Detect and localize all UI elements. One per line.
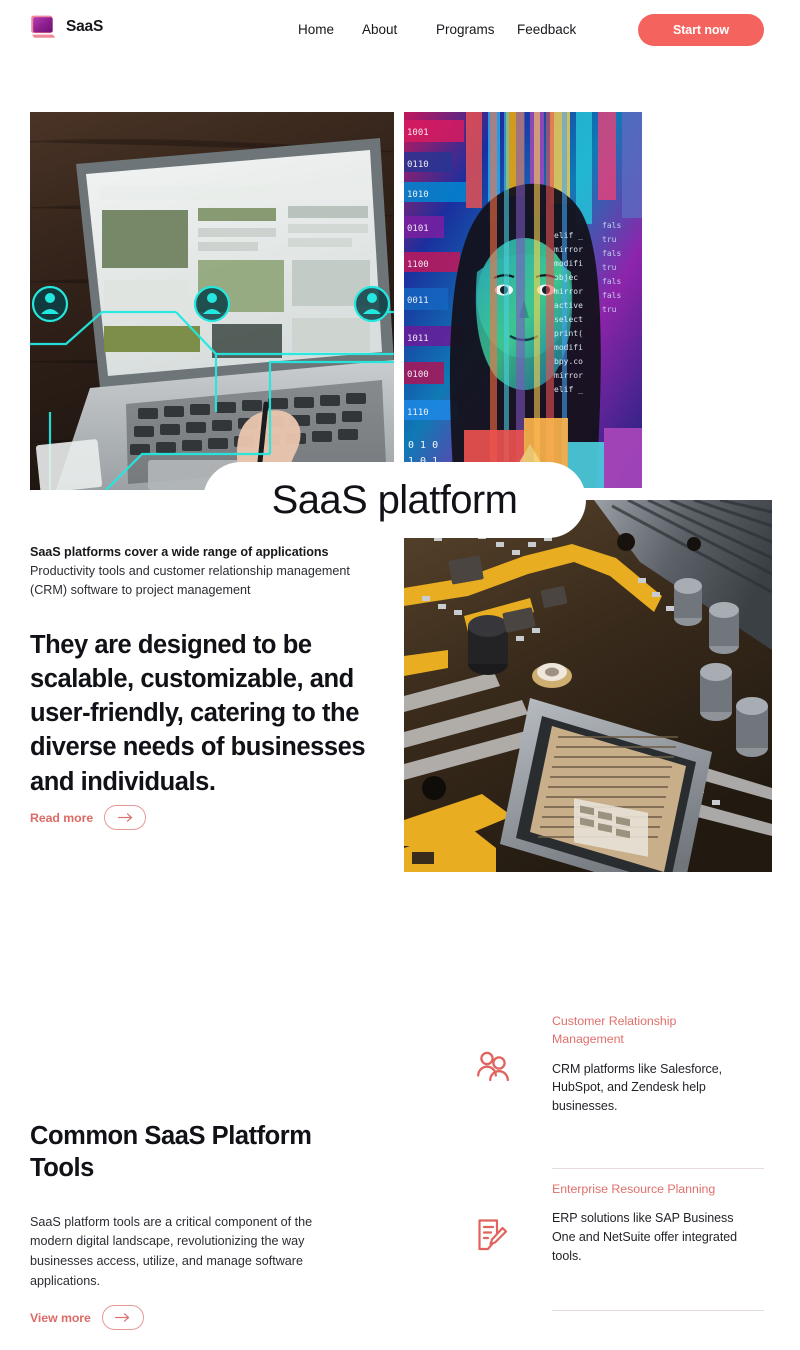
tools-text-block: Common SaaS Platform Tools SaaS platform… [30,1120,360,1291]
svg-text:1001: 1001 [407,128,429,138]
laptop-network-photo [30,112,394,490]
view-more-link[interactable]: View more [30,1305,144,1330]
svg-text:bpy.co: bpy.co [554,357,583,366]
feature-description: ERP solutions like SAP Business One and … [552,1209,744,1265]
svg-text:elif _: elif _ [554,231,583,240]
svg-text:mirror: mirror [554,287,583,296]
svg-text:1110: 1110 [407,408,429,418]
feature-title: Customer Relationship Management [552,1012,744,1049]
woman-code-projection-photo: 10010110 10100101 11000011 10110100 1110 [404,112,642,488]
svg-text:print(: print( [554,329,583,338]
feature-title: Enterprise Resource Planning [552,1180,744,1198]
arrow-right-icon[interactable] [102,1305,144,1330]
svg-text:tru: tru [602,235,617,244]
svg-text:tru: tru [602,263,617,272]
svg-text:objec: objec [554,273,578,282]
feature-list: Customer Relationship Management CRM pla… [476,1000,772,1311]
about-heading: They are designed to be scalable, custom… [30,628,396,799]
svg-text:tru: tru [602,305,617,314]
feature-item-erp: Enterprise Resource Planning ERP solutio… [476,1168,772,1266]
users-icon [476,1012,522,1082]
svg-text:fals: fals [602,249,621,258]
svg-text:1100: 1100 [407,260,429,270]
svg-text:fals: fals [602,277,621,286]
document-edit-icon [476,1180,522,1252]
view-more-label: View more [30,1311,91,1325]
svg-text:1010: 1010 [407,190,429,200]
feature-divider [552,1310,764,1311]
svg-text:mirror: mirror [554,371,583,380]
feature-spacer [476,1116,772,1168]
feature-item-crm: Customer Relationship Management CRM pla… [476,1000,772,1116]
about-sub-text: Productivity tools and customer relation… [30,562,388,600]
about-lead-text: SaaS platforms cover a wide range of app… [30,543,390,561]
hero-title-pill: SaaS platform [203,462,586,538]
svg-text:mirror: mirror [554,245,583,254]
svg-text:0 1 0: 0 1 0 [408,440,438,451]
svg-text:select: select [554,315,583,324]
landing-page: SaaS Home About Programs Feedback Start … [0,0,800,1350]
feature-divider [552,1168,764,1169]
circuit-board-photo [404,500,772,872]
svg-text:fals: fals [602,221,621,230]
svg-text:elif _: elif _ [554,385,583,394]
svg-text:fals: fals [602,291,621,300]
arrow-right-icon[interactable] [104,805,146,830]
feature-description: CRM platforms like Salesforce, HubSpot, … [552,1060,744,1116]
svg-text:0101: 0101 [407,224,429,234]
page-title: SaaS platform [272,480,518,520]
read-more-link[interactable]: Read more [30,805,146,830]
svg-text:modifi: modifi [554,259,583,268]
tools-heading: Common SaaS Platform Tools [30,1120,360,1185]
tools-body-text: SaaS platform tools are a critical compo… [30,1213,330,1292]
svg-text:0110: 0110 [407,160,429,170]
svg-text:1011: 1011 [407,334,429,344]
read-more-label: Read more [30,811,93,825]
svg-text:active: active [554,301,583,310]
svg-text:0011: 0011 [407,296,429,306]
about-block: SaaS platforms cover a wide range of app… [30,543,390,799]
svg-text:modifi: modifi [554,343,583,352]
svg-text:0100: 0100 [407,370,429,380]
feature-spacer [476,1266,772,1310]
